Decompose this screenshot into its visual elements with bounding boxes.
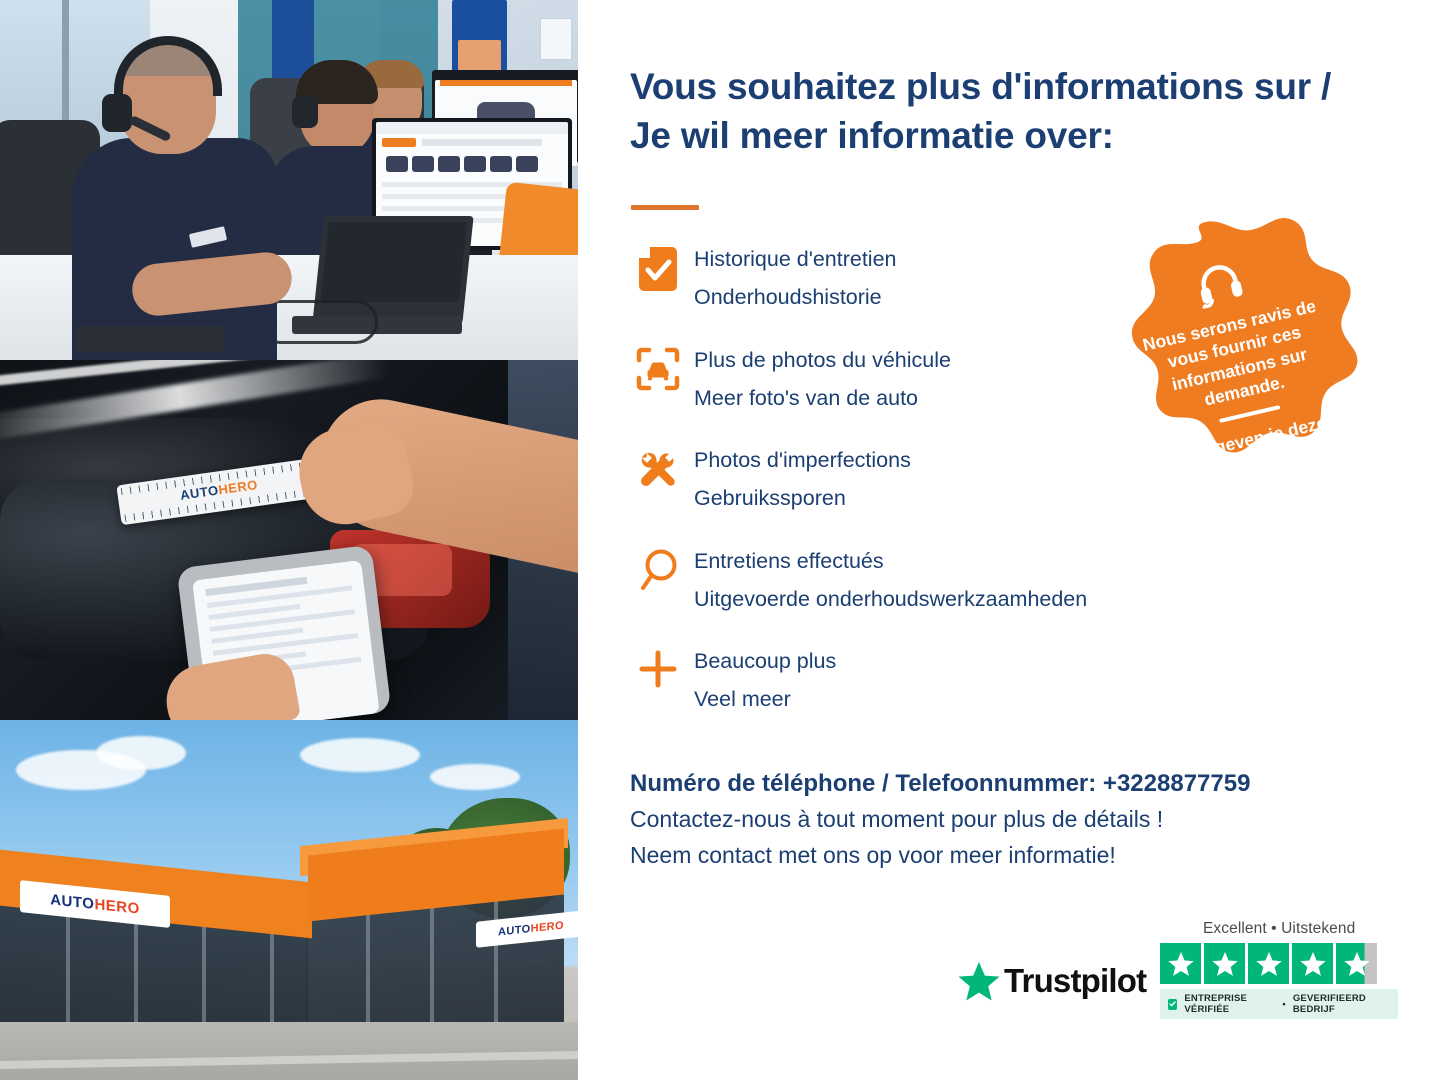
feature-label-nl: Uitgevoerde onderhoudswerkzaamheden [694,580,1087,618]
list-item: Beaucoup plus Veel meer [630,642,1270,719]
document-check-icon [630,240,686,292]
verified-label-fr: ENTREPRISE VÉRIFIÉE [1184,993,1275,1015]
photo-call-centre [0,0,578,360]
feature-label-fr: Photos d'imperfections [694,448,911,472]
star-icon [1292,943,1333,984]
star-rating [1160,943,1398,984]
badge-text-nl: We geven je deze informatie graag op ver… [1152,404,1368,516]
feature-label-fr: Plus de photos du véhicule [694,348,951,372]
star-icon [1248,943,1289,984]
verified-label-nl: GEVERIFIEERD BEDRIJF [1293,993,1390,1015]
headline-line-fr: Vous souhaitez plus d'informations sur / [630,66,1331,107]
content-panel: Vous souhaitez plus d'informations sur /… [578,0,1440,1080]
contact-line-nl: Neem contact met ons op voor meer inform… [630,838,1420,874]
star-icon-half [1336,943,1377,984]
trustpilot-logo: Trustpilot [958,961,1146,1019]
brand-name-part1-right: AUTO [498,923,531,938]
feature-label-fr: Entretiens effectués [694,549,884,573]
photo-column: AUTOHERO [0,0,578,1080]
trustpilot-star-icon [958,961,1000,1001]
trustpilot-rating: Excellent • Uitstekend ENTREPRISE VÉRIFI… [1160,920,1398,1019]
headline-line-nl: Je wil meer informatie over: [630,115,1114,156]
contact-line-fr: Contactez-nous à tout moment pour plus d… [630,802,1420,838]
wall-notice [540,18,572,60]
page-title: Vous souhaitez plus d'informations sur /… [630,62,1410,160]
contact-block: Numéro de téléphone / Telefoonnummer: +3… [630,766,1420,873]
agent-foreground [72,42,282,360]
magnifier-icon [630,542,686,592]
feature-label-nl: Onderhoudshistorie [694,278,897,316]
brand-name-part2: HERO [94,895,139,917]
check-badge-icon [1168,999,1177,1010]
pavement [0,1022,578,1080]
badge-text-fr: Nous serons ravis de vous fournir ces in… [1126,291,1347,425]
feature-label-nl: Gebruikssporen [694,479,911,517]
title-divider [631,205,699,210]
wall-poster [452,0,507,78]
list-item-text: Historique d'entretien Onderhoudshistori… [686,240,897,317]
feature-label-nl: Meer foto's van de auto [694,379,951,417]
plus-icon [630,642,686,690]
list-item-text: Entretiens effectués Uitgevoerde onderho… [686,542,1087,619]
tools-icon [630,441,686,491]
feature-label-fr: Beaucoup plus [694,649,836,673]
star-icon [1204,943,1245,984]
trustpilot-wordmark: Trustpilot [1004,962,1146,1000]
list-item-text: Beaucoup plus Veel meer [686,642,836,719]
phone-number[interactable]: Numéro de téléphone / Telefoonnummer: +3… [630,766,1420,802]
list-item-text: Photos d'imperfections Gebruikssporen [686,441,911,518]
trustpilot-widget[interactable]: Trustpilot Excellent • Uitstekend ENTREP… [958,920,1398,1019]
tablet-on-desk [76,326,224,352]
rating-label: Excellent • Uitstekend [1160,920,1398,938]
car-scan-icon [630,341,686,391]
brand-name-part2-right: HERO [531,920,564,936]
headset-icon [1192,258,1247,314]
feature-label-nl: Veel meer [694,680,836,718]
verified-business-badge: ENTREPRISE VÉRIFIÉE • GEVERIFIEERD BEDRI… [1160,989,1398,1019]
promo-page: AUTOHERO [0,0,1440,1080]
brand-name-part1: AUTO [50,891,94,913]
feature-label-fr: Historique d'entretien [694,247,897,271]
badge-divider [1219,405,1280,423]
verified-separator: • [1282,999,1286,1010]
star-icon [1160,943,1201,984]
photo-showroom: AUTOHERO AUTOHERO [0,720,578,1080]
photo-inspection: AUTOHERO [0,360,578,720]
showroom-building: AUTOHERO AUTOHERO [0,832,560,1052]
list-item-text: Plus de photos du véhicule Meer foto's v… [686,341,951,418]
